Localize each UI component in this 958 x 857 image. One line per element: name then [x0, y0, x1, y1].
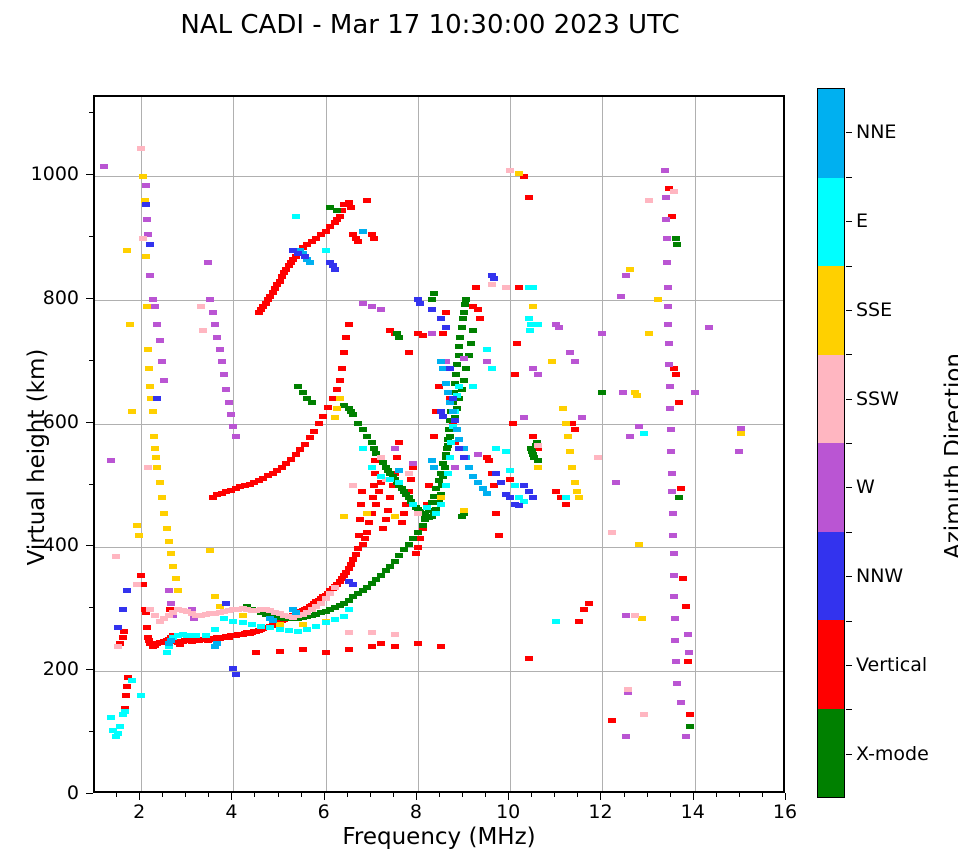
- echo-point: [172, 576, 180, 581]
- echo-point: [239, 620, 247, 625]
- echo-point: [322, 229, 330, 234]
- echo-point: [419, 333, 427, 338]
- echo-point: [363, 511, 371, 516]
- echo-point: [525, 656, 533, 661]
- echo-point: [663, 236, 671, 241]
- echo-point: [472, 285, 480, 290]
- echo-point: [156, 338, 164, 343]
- echo-point: [502, 449, 510, 454]
- echo-point: [654, 297, 662, 302]
- echo-point: [225, 400, 233, 405]
- echo-point: [534, 322, 542, 327]
- echo-point: [444, 471, 452, 476]
- echo-point: [562, 502, 570, 507]
- echo-point: [670, 189, 678, 194]
- echo-point: [612, 480, 620, 485]
- echo-point: [165, 539, 173, 544]
- echo-point: [139, 236, 147, 241]
- x-tick: [416, 793, 417, 800]
- echo-point: [144, 465, 152, 470]
- colorbar-boundary-tick: [846, 177, 852, 178]
- echo-point: [229, 619, 237, 624]
- echo-point: [391, 632, 399, 637]
- echo-point: [497, 480, 505, 485]
- x-tick-minor: [739, 793, 740, 797]
- echo-point: [439, 414, 447, 419]
- x-tick-minor: [670, 793, 671, 797]
- echo-point: [511, 483, 519, 488]
- echo-point: [662, 217, 670, 222]
- echo-point: [666, 406, 674, 411]
- echo-point: [668, 471, 676, 476]
- echo-point: [292, 214, 300, 219]
- colorbar-boundary-tick: [846, 621, 852, 622]
- x-tick-minor: [577, 793, 578, 797]
- x-tick-label: 2: [133, 801, 145, 823]
- colorbar-segment-ssw[interactable]: [818, 355, 844, 444]
- echo-point: [502, 285, 510, 290]
- echo-point: [338, 366, 346, 371]
- echo-point: [276, 627, 284, 632]
- echo-point: [322, 596, 330, 601]
- echo-point: [675, 495, 683, 500]
- colorbar-label-nnw: NNW: [856, 565, 903, 587]
- colorbar-tick: [846, 221, 852, 222]
- echo-point: [375, 489, 383, 494]
- x-tick-label: 16: [773, 801, 797, 823]
- echo-point: [456, 335, 464, 340]
- echo-point: [340, 514, 348, 519]
- echo-point: [372, 577, 380, 582]
- echo-point: [474, 480, 482, 485]
- echo-point: [345, 647, 353, 652]
- echo-point: [322, 650, 330, 655]
- colorbar-segment-e[interactable]: [818, 178, 844, 267]
- y-tick-label: 800: [43, 287, 79, 309]
- echo-point: [428, 331, 436, 336]
- echo-point: [455, 437, 463, 442]
- echo-point: [446, 455, 454, 460]
- echo-point: [667, 449, 675, 454]
- echo-point: [100, 164, 108, 169]
- gridline-vertical: [326, 97, 327, 791]
- echo-point: [160, 378, 168, 383]
- echo-point: [331, 617, 339, 622]
- echo-point: [559, 406, 567, 411]
- gridline-horizontal: [95, 547, 783, 548]
- echo-point: [414, 545, 422, 550]
- echo-point: [278, 274, 286, 279]
- plot-area: [93, 95, 785, 793]
- echo-point: [363, 530, 371, 535]
- echo-point: [670, 573, 678, 578]
- colorbar-segment-nne[interactable]: [818, 89, 844, 178]
- echo-point: [369, 495, 377, 500]
- echo-point: [377, 474, 385, 479]
- echo-point: [626, 434, 634, 439]
- echo-point: [395, 468, 403, 473]
- echo-point: [370, 236, 378, 241]
- echo-point: [520, 415, 528, 420]
- echo-point: [419, 523, 427, 528]
- echo-point: [116, 724, 124, 729]
- echo-point: [123, 684, 131, 689]
- x-tick: [693, 793, 694, 800]
- gridline-horizontal: [95, 176, 783, 177]
- echo-point: [365, 520, 373, 525]
- x-tick-minor: [393, 793, 394, 797]
- echo-point: [506, 468, 514, 473]
- echo-point: [395, 440, 403, 445]
- ionogram-figure: NAL CADI - Mar 17 10:30:00 2023 UTC 2468…: [0, 0, 958, 857]
- echo-point: [377, 641, 385, 646]
- echo-point: [391, 559, 399, 564]
- echo-point: [529, 495, 537, 500]
- echo-point: [677, 700, 685, 705]
- echo-point: [488, 366, 496, 371]
- colorbar-boundary-tick: [846, 532, 852, 533]
- echo-point: [462, 297, 470, 302]
- echo-point: [142, 183, 150, 188]
- echo-point: [312, 624, 320, 629]
- echo-point: [363, 434, 371, 439]
- echo-point: [146, 607, 154, 612]
- echo-point: [128, 678, 136, 683]
- echo-point: [345, 607, 353, 612]
- echo-point: [664, 322, 672, 327]
- echo-point: [691, 390, 699, 395]
- gridline-horizontal: [95, 424, 783, 425]
- echo-point: [622, 613, 630, 618]
- echo-point: [146, 242, 154, 247]
- echo-point: [368, 644, 376, 649]
- x-tick-minor: [531, 793, 532, 797]
- y-tick: [86, 545, 93, 546]
- colorbar-segment-x-mode[interactable]: [818, 709, 844, 798]
- echo-point: [336, 214, 344, 219]
- echo-point: [299, 647, 307, 652]
- y-tick-minor: [89, 484, 93, 485]
- echo-point: [269, 618, 277, 623]
- echo-point: [465, 465, 473, 470]
- echo-point: [515, 503, 523, 508]
- gridline-horizontal: [95, 300, 783, 301]
- echo-point: [662, 195, 670, 200]
- colorbar-label-ssw: SSW: [856, 388, 899, 410]
- echo-point: [635, 424, 643, 429]
- echo-point: [555, 325, 563, 330]
- echo-point: [252, 650, 260, 655]
- echo-point: [266, 625, 274, 630]
- colorbar-segment-nnw[interactable]: [818, 532, 844, 621]
- echo-point: [667, 427, 675, 432]
- echo-point: [705, 325, 713, 330]
- colorbar-axis-label: Azimuth Direction: [941, 286, 958, 626]
- echo-point: [405, 542, 413, 547]
- echo-point: [345, 322, 353, 327]
- echo-point: [354, 239, 362, 244]
- echo-point: [407, 477, 415, 482]
- x-tick-minor: [762, 793, 763, 797]
- echo-point: [685, 650, 693, 655]
- echo-point: [163, 650, 171, 655]
- echo-point: [598, 390, 606, 395]
- echo-point: [153, 396, 161, 401]
- echo-point: [673, 242, 681, 247]
- echo-point: [488, 282, 496, 287]
- echo-point: [673, 681, 681, 686]
- echo-point: [158, 359, 166, 364]
- echo-point: [617, 294, 625, 299]
- x-tick-minor: [185, 793, 186, 797]
- echo-point: [142, 254, 150, 259]
- x-axis-label: Frequency (MHz): [93, 824, 785, 850]
- x-tick-minor: [462, 793, 463, 797]
- y-tick-minor: [89, 607, 93, 608]
- echo-point: [209, 310, 217, 315]
- echo-point: [442, 381, 450, 386]
- echo-point: [669, 533, 677, 538]
- echo-point: [562, 495, 570, 500]
- x-tick-minor: [116, 793, 117, 797]
- echo-point: [414, 511, 422, 516]
- colorbar-tick: [846, 132, 852, 133]
- x-tick-label: 10: [496, 801, 520, 823]
- echo-point: [114, 731, 122, 736]
- echo-point: [359, 229, 367, 234]
- echo-point: [598, 331, 606, 336]
- x-tick-minor: [254, 793, 255, 797]
- echo-point: [213, 641, 221, 646]
- echo-point: [509, 421, 517, 426]
- x-tick-label: 12: [588, 801, 612, 823]
- echo-point: [363, 198, 371, 203]
- echo-point: [119, 607, 127, 612]
- colorbar[interactable]: [817, 88, 845, 798]
- echo-point: [352, 552, 360, 557]
- echo-point: [153, 465, 161, 470]
- echo-point: [460, 378, 468, 383]
- echo-point: [665, 341, 673, 346]
- echo-point: [437, 644, 445, 649]
- echo-point: [306, 260, 314, 265]
- echo-point: [529, 366, 537, 371]
- colorbar-tick: [846, 487, 852, 488]
- echo-point: [229, 666, 237, 671]
- echo-point: [515, 285, 523, 290]
- colorbar-label-e: E: [856, 210, 868, 232]
- x-tick-minor: [716, 793, 717, 797]
- echo-point: [331, 415, 339, 420]
- echo-point: [432, 486, 440, 491]
- echo-point: [165, 588, 173, 593]
- echo-point: [405, 471, 413, 476]
- echo-point: [146, 273, 154, 278]
- colorbar-segment-vertical[interactable]: [818, 620, 844, 709]
- echo-point: [248, 622, 256, 627]
- echo-point: [525, 489, 533, 494]
- echo-point: [529, 304, 537, 309]
- echo-point: [121, 709, 129, 714]
- echo-point: [211, 322, 219, 327]
- echo-point: [169, 564, 177, 569]
- echo-point: [686, 712, 694, 717]
- y-tick: [86, 793, 93, 794]
- y-tick: [86, 669, 93, 670]
- x-tick-minor: [554, 793, 555, 797]
- echo-point: [301, 442, 309, 447]
- y-tick-minor: [89, 360, 93, 361]
- echo-point: [202, 633, 210, 638]
- echo-point: [227, 412, 235, 417]
- echo-point: [322, 620, 330, 625]
- echo-point: [220, 372, 228, 377]
- x-tick-minor: [370, 793, 371, 797]
- echo-point: [679, 576, 687, 581]
- echo-point: [197, 304, 205, 309]
- echo-point: [107, 458, 115, 463]
- echo-point: [146, 384, 154, 389]
- echo-point: [149, 409, 157, 414]
- echo-point: [461, 302, 469, 307]
- echo-point: [490, 276, 498, 281]
- echo-point: [358, 489, 366, 494]
- echo-point: [452, 372, 460, 377]
- echo-point: [672, 372, 680, 377]
- echo-point: [133, 582, 141, 587]
- x-tick-label: 6: [318, 801, 330, 823]
- echo-point: [414, 530, 422, 535]
- echo-point: [306, 435, 314, 440]
- echo-point: [359, 427, 367, 432]
- echo-point: [229, 424, 237, 429]
- echo-point: [633, 393, 641, 398]
- echo-point: [622, 734, 630, 739]
- echo-point: [437, 316, 445, 321]
- echo-point: [322, 248, 330, 253]
- echo-point: [144, 347, 152, 352]
- echo-point: [664, 285, 672, 290]
- echo-point: [663, 260, 671, 265]
- echo-point: [462, 366, 470, 371]
- echo-point: [506, 495, 514, 500]
- echo-point: [534, 465, 542, 470]
- echo-point: [437, 502, 445, 507]
- echo-point: [359, 301, 367, 306]
- echo-point: [529, 434, 537, 439]
- x-tick-label: 8: [410, 801, 422, 823]
- echo-point: [671, 616, 679, 621]
- echo-point: [123, 248, 131, 253]
- colorbar-segment-w[interactable]: [818, 443, 844, 532]
- echo-point: [573, 489, 581, 494]
- echo-point: [469, 474, 477, 479]
- echo-point: [437, 495, 445, 500]
- echo-point: [128, 409, 136, 414]
- echo-point: [372, 502, 380, 507]
- echo-point: [520, 483, 528, 488]
- y-tick-minor: [89, 731, 93, 732]
- echo-point: [206, 297, 214, 302]
- echo-point: [400, 547, 408, 552]
- echo-point: [137, 573, 145, 578]
- echo-point: [354, 421, 362, 426]
- echo-point: [409, 502, 417, 507]
- echo-point: [409, 461, 417, 466]
- echo-point: [347, 205, 355, 210]
- echo-point: [276, 649, 284, 654]
- echo-point: [174, 588, 182, 593]
- echo-point: [163, 526, 171, 531]
- echo-point: [292, 452, 300, 457]
- echo-point: [331, 267, 339, 272]
- colorbar-tick: [846, 310, 852, 311]
- colorbar-tick: [846, 665, 852, 666]
- echo-point: [416, 536, 424, 541]
- echo-point: [668, 489, 676, 494]
- echo-point: [506, 168, 514, 173]
- echo-point: [368, 465, 376, 470]
- echo-point: [453, 362, 461, 367]
- echo-point: [152, 455, 160, 460]
- echo-point: [515, 171, 523, 176]
- echo-point: [303, 627, 311, 632]
- colorbar-boundary-tick: [846, 443, 852, 444]
- echo-point: [414, 641, 422, 646]
- echo-point: [239, 613, 247, 618]
- echo-point: [458, 514, 466, 519]
- x-tick-minor: [485, 793, 486, 797]
- y-tick-label: 1000: [31, 163, 79, 185]
- x-tick-minor: [162, 793, 163, 797]
- echo-point: [568, 465, 576, 470]
- echo-point: [476, 316, 484, 321]
- echo-point: [534, 443, 542, 448]
- echo-point: [439, 331, 447, 336]
- echo-point: [153, 322, 161, 327]
- echo-point: [437, 359, 445, 364]
- echo-point: [460, 508, 468, 513]
- echo-point: [368, 440, 376, 445]
- echo-point: [391, 514, 399, 519]
- echo-point: [439, 461, 447, 466]
- echo-point: [552, 619, 560, 624]
- echo-point: [566, 350, 574, 355]
- echo-point: [326, 591, 334, 596]
- echo-point: [391, 446, 399, 451]
- echo-point: [139, 174, 147, 179]
- x-tick-label: 4: [225, 801, 237, 823]
- echo-point: [324, 405, 332, 410]
- colorbar-tick: [846, 399, 852, 400]
- echo-point: [640, 431, 648, 436]
- echo-point: [529, 285, 537, 290]
- colorbar-segment-sse[interactable]: [818, 266, 844, 355]
- echo-point: [686, 724, 694, 729]
- echo-point: [287, 457, 295, 462]
- echo-point: [626, 267, 634, 272]
- echo-point: [534, 458, 542, 463]
- echo-point: [158, 495, 166, 500]
- echo-point: [382, 568, 390, 573]
- echo-point: [299, 390, 307, 395]
- echo-point: [160, 511, 168, 516]
- colorbar-label-nne: NNE: [856, 121, 896, 143]
- echo-point: [206, 548, 214, 553]
- echo-point: [151, 613, 159, 618]
- echo-point: [665, 362, 673, 367]
- echo-point: [640, 712, 648, 717]
